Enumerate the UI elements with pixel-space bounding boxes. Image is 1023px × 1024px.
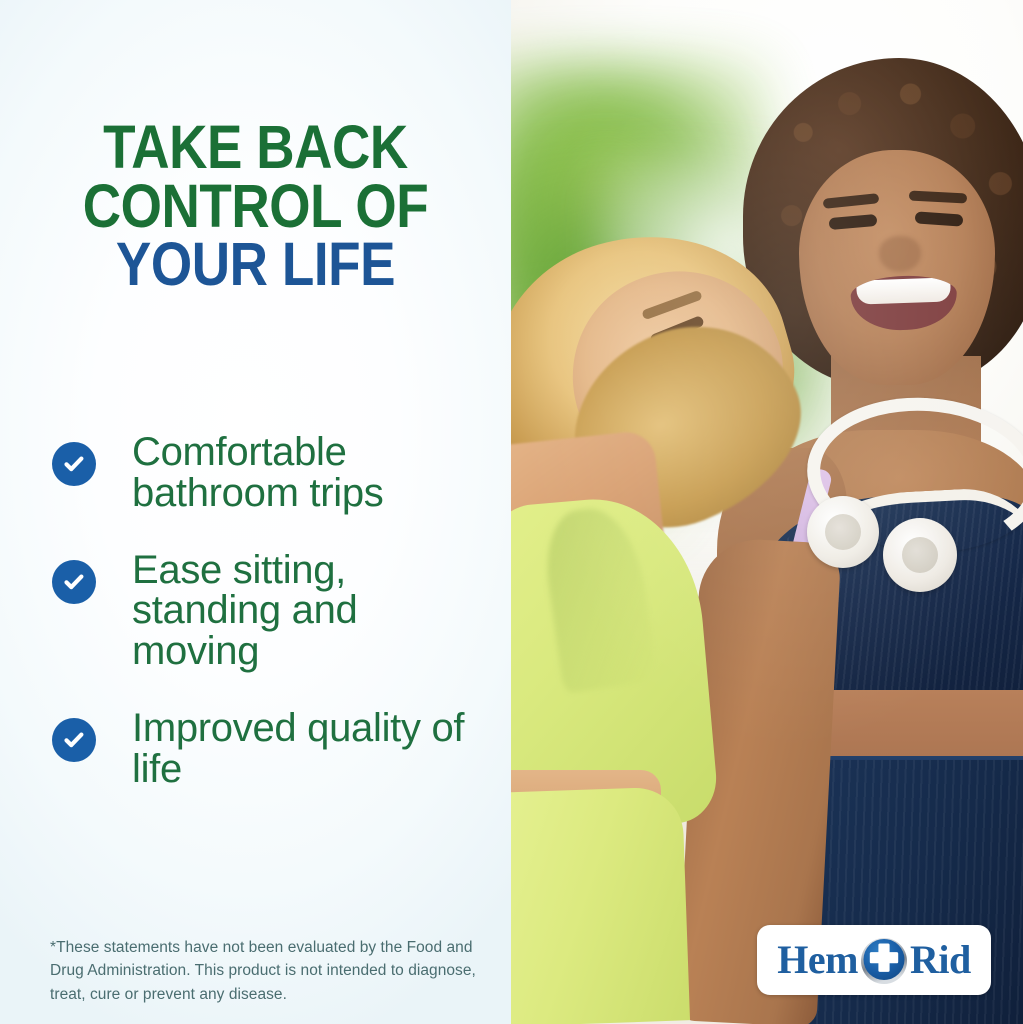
logo-word-right: Rid xyxy=(910,940,971,980)
headline-line-2: CONTROL OF xyxy=(33,177,478,236)
fda-disclaimer: *These statements have not been evaluate… xyxy=(50,936,482,1007)
check-circle-icon xyxy=(52,560,96,604)
headphone-earcup-inner xyxy=(825,514,861,550)
headline-line-1: TAKE BACK xyxy=(33,118,478,177)
teeth xyxy=(856,277,951,304)
brand-logo[interactable]: Hem xyxy=(757,925,991,995)
lifestyle-photo xyxy=(511,0,1023,1024)
benefit-label: Comfortable bathroom trips xyxy=(132,432,477,514)
benefit-label: Ease sitting, standing and moving xyxy=(132,550,477,672)
nose xyxy=(879,236,921,272)
benefit-item: Ease sitting, standing and moving xyxy=(52,550,492,672)
headline-block: TAKE BACK CONTROL OF YOUR LIFE xyxy=(0,118,511,294)
headphone-earcup-inner xyxy=(902,537,938,573)
medical-cross-medallion-icon xyxy=(859,935,909,985)
benefit-label: Improved quality of life xyxy=(132,708,477,790)
lime-leggings xyxy=(511,786,690,1024)
promotional-ad-canvas: TAKE BACK CONTROL OF YOUR LIFE Comfortab… xyxy=(0,0,1023,1024)
benefit-item: Comfortable bathroom trips xyxy=(52,432,492,514)
content-panel: TAKE BACK CONTROL OF YOUR LIFE Comfortab… xyxy=(0,0,511,1024)
benefits-list: Comfortable bathroom trips Ease sitting,… xyxy=(52,432,492,790)
photo-composition xyxy=(511,0,1023,1024)
headline-line-3: YOUR LIFE xyxy=(33,235,478,294)
check-circle-icon xyxy=(52,718,96,762)
check-circle-icon xyxy=(52,442,96,486)
benefit-item: Improved quality of life xyxy=(52,708,492,790)
logo-word-left: Hem xyxy=(777,940,858,980)
